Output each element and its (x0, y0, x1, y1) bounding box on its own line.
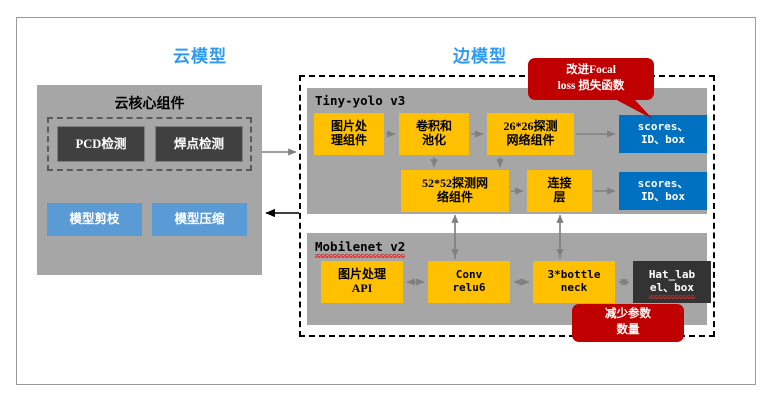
node-conv-pooling-label: 卷积和池化 (416, 120, 452, 148)
node-weld-detection[interactable]: 焊点检测 (155, 126, 243, 162)
node-hat-label-output-label: Hat_label、box (649, 269, 695, 294)
node-model-pruning-label: 模型剪枝 (69, 212, 119, 226)
node-image-processing-api-label: 图片处理API (338, 268, 386, 296)
node-model-compression-label: 模型压缩 (174, 212, 224, 226)
node-hat-label-output[interactable]: Hat_label、box (633, 261, 711, 303)
node-image-processing-component[interactable]: 图片处理组件 (314, 113, 384, 155)
callout-focal-loss[interactable]: 改进Focalloss 损失函数 (528, 58, 688, 114)
node-conv-relu6-label: Convrelu6 (452, 269, 485, 294)
mobilenet-section-label-inner: Mobilenet v2 (315, 239, 405, 254)
mobilenet-section-label: Mobilenet v2 (315, 239, 405, 254)
node-detect-52x52[interactable]: 52*52探测网络组件 (401, 170, 509, 212)
node-conv-relu6[interactable]: Convrelu6 (428, 261, 510, 303)
tiny-yolo-section-label-text: Tiny-yolo v3 (315, 93, 405, 108)
cloud-core-title: 云核心组件 (37, 93, 262, 113)
node-detect-26x26[interactable]: 26*26探测网络组件 (487, 113, 574, 155)
node-pcd-detection-label: PCD检测 (76, 137, 127, 151)
callout-reduce-params-body: 减少参数数量 (572, 304, 684, 342)
node-conv-pooling[interactable]: 卷积和池化 (399, 113, 469, 155)
cloud-model-panel (37, 85, 262, 275)
node-detect-52x52-label: 52*52探测网络组件 (422, 177, 488, 205)
node-concat-layer[interactable]: 连接层 (527, 170, 592, 212)
spellcheck-squiggle-icon (315, 254, 405, 258)
mobilenet-section-label-text: Mobilenet v2 (315, 239, 405, 254)
page-title-cloud: 云模型 (110, 42, 290, 67)
node-weld-detection-label: 焊点检测 (174, 137, 224, 151)
callout-focal-loss-body: 改进Focalloss 损失函数 (528, 58, 654, 100)
node-detect-26x26-label: 26*26探测网络组件 (503, 120, 557, 148)
diagram-canvas: 云模型 边模型 云核心组件 PCD检测 焊点检测 模型剪枝 模型压缩 Tiny-… (0, 0, 774, 404)
node-output-scores-1-label: scores、ID、box (638, 121, 689, 146)
node-hat-label-output-text: Hat_label、box (649, 269, 695, 294)
node-output-scores-1[interactable]: scores、ID、box (619, 115, 707, 153)
tiny-yolo-section-label: Tiny-yolo v3 (315, 93, 405, 108)
node-image-processing-api[interactable]: 图片处理API (321, 261, 403, 303)
node-output-scores-2[interactable]: scores、ID、box (619, 172, 707, 210)
node-concat-layer-label: 连接层 (547, 177, 571, 205)
callout-reduce-params[interactable]: 减少参数数量 (552, 298, 692, 346)
node-model-compression[interactable]: 模型压缩 (152, 203, 247, 236)
node-bottleneck-label: 3*bottleneck (548, 269, 601, 294)
node-output-scores-2-label: scores、ID、box (638, 178, 689, 203)
node-image-processing-component-label: 图片处理组件 (331, 120, 367, 148)
node-bottleneck[interactable]: 3*bottleneck (533, 261, 615, 303)
node-model-pruning[interactable]: 模型剪枝 (47, 203, 142, 236)
node-pcd-detection[interactable]: PCD检测 (57, 126, 145, 162)
